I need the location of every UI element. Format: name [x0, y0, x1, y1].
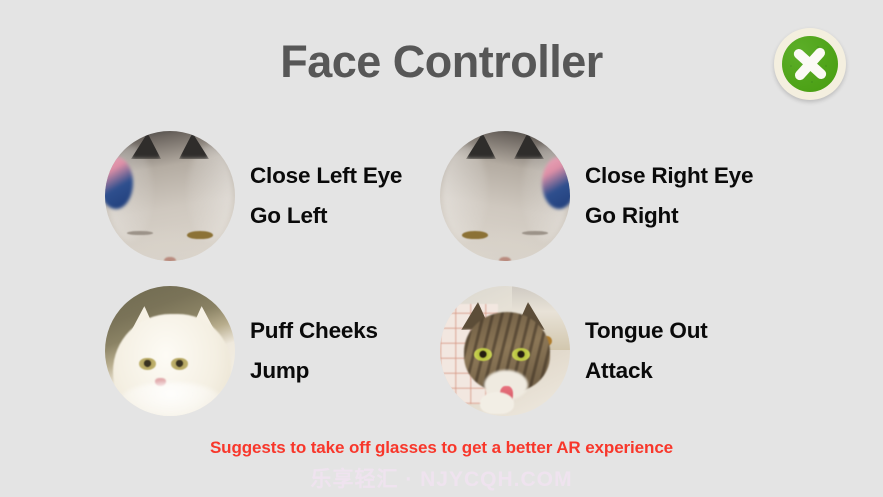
- gesture-action-label: Jump: [250, 360, 378, 383]
- gesture-trigger-label: Puff Cheeks: [250, 320, 378, 343]
- watermark: 乐享轻汇 · NJYCQH.COM: [0, 463, 883, 493]
- page-title: Face Controller: [0, 36, 883, 88]
- gesture-trigger-label: Close Left Eye: [250, 165, 402, 188]
- suggestion-note: Suggests to take off glasses to get a be…: [0, 438, 883, 458]
- gesture-action-label: Attack: [585, 360, 708, 383]
- gesture-labels: Close Left Eye Go Left: [250, 165, 402, 228]
- x-icon: [782, 36, 838, 92]
- avatar-tabby-cat-tongue-out: [440, 286, 570, 416]
- avatar-silver-persian-cat-right-eye-closed: [440, 131, 570, 261]
- gesture-labels: Close Right Eye Go Right: [585, 165, 753, 228]
- gesture-labels: Puff Cheeks Jump: [250, 320, 378, 383]
- gesture-action-label: Go Left: [250, 205, 402, 228]
- gesture-action-label: Go Right: [585, 205, 753, 228]
- avatar-white-persian-cat-puffed-cheeks: [105, 286, 235, 416]
- gesture-trigger-label: Close Right Eye: [585, 165, 753, 188]
- gesture-item-puff-cheeks[interactable]: Puff Cheeks Jump: [105, 286, 378, 416]
- gesture-grid: Close Left Eye Go Left Close Right Eye G…: [0, 122, 883, 422]
- avatar-silver-persian-cat-left-eye-closed: [105, 131, 235, 261]
- gesture-labels: Tongue Out Attack: [585, 320, 708, 383]
- gesture-item-tongue-out[interactable]: Tongue Out Attack: [440, 286, 708, 416]
- app-logo: [774, 28, 846, 100]
- gesture-trigger-label: Tongue Out: [585, 320, 708, 343]
- gesture-item-close-right-eye[interactable]: Close Right Eye Go Right: [440, 131, 753, 261]
- gesture-item-close-left-eye[interactable]: Close Left Eye Go Left: [105, 131, 402, 261]
